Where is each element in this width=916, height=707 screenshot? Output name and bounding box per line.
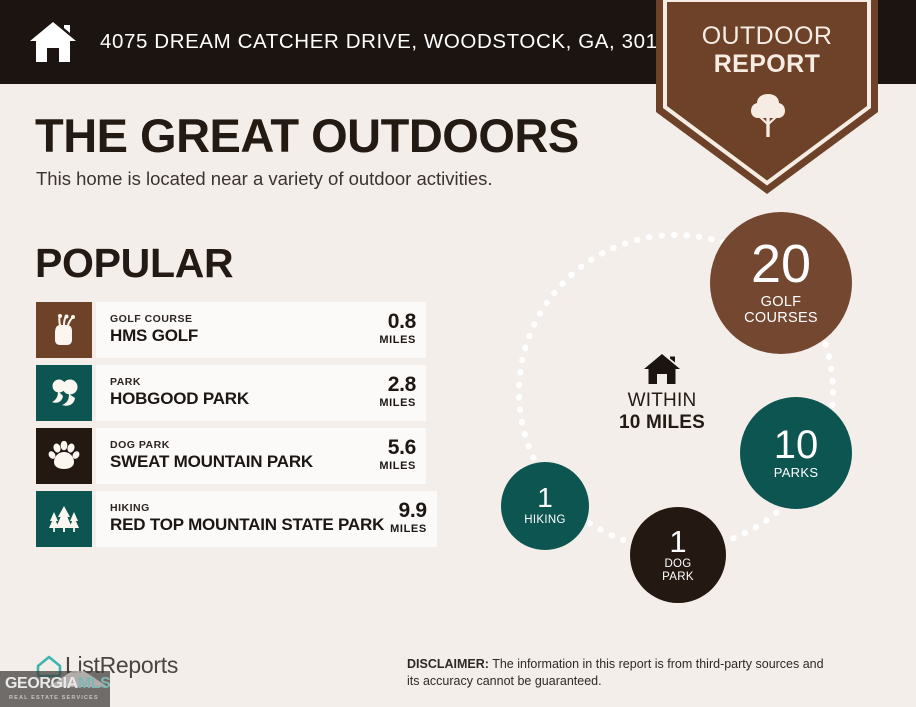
bubble-label-line-2: COURSES bbox=[744, 311, 818, 327]
list-item-distance: 2.8 MILES bbox=[373, 374, 416, 412]
home-icon bbox=[28, 20, 78, 64]
distance-unit: MILES bbox=[379, 458, 416, 475]
watermark-georgia: GEORGIA bbox=[5, 675, 78, 692]
within-10-miles-diagram: 20 GOLF COURSES 10 PARKS 1 DOG PARK 1 HI… bbox=[480, 196, 900, 616]
pine-trees-icon-tile bbox=[36, 491, 92, 547]
pine-trees-icon bbox=[48, 504, 80, 534]
list-item-category: HIKING bbox=[110, 502, 384, 515]
bubble-label-line-1: GOLF bbox=[761, 295, 802, 311]
list-item-name: HOBGOOD PARK bbox=[110, 389, 373, 409]
list-item[interactable]: GOLF COURSE HMS GOLF 0.8 MILES bbox=[36, 302, 426, 358]
list-item-body: DOG PARK SWEAT MOUNTAIN PARK 5.6 MILES bbox=[96, 428, 426, 484]
bubble-count: 1 bbox=[669, 527, 686, 556]
watermark-mls: MLS bbox=[78, 675, 110, 692]
bubble-dog-park[interactable]: 1 DOG PARK bbox=[630, 507, 726, 603]
home-icon bbox=[642, 352, 682, 386]
watermark-tagline: REAL ESTATE SERVICES bbox=[9, 695, 99, 701]
bubble-count: 20 bbox=[751, 239, 811, 290]
diagram-center-label: WITHIN 10 MILES bbox=[602, 352, 722, 434]
bubble-count: 1 bbox=[537, 485, 553, 512]
bubble-label-line-1: PARKS bbox=[774, 466, 819, 480]
list-item-body: PARK HOBGOOD PARK 2.8 MILES bbox=[96, 365, 426, 421]
distance-unit: MILES bbox=[379, 395, 416, 412]
golf-bag-icon bbox=[49, 314, 79, 346]
georgia-mls-watermark: GEORGIAMLS REAL ESTATE SERVICES bbox=[0, 671, 110, 707]
list-item-text: DOG PARK SWEAT MOUNTAIN PARK bbox=[110, 439, 373, 473]
list-item-name: HMS GOLF bbox=[110, 326, 373, 346]
park-trees-icon-tile bbox=[36, 365, 92, 421]
disclaimer-label: DISCLAIMER: bbox=[407, 657, 489, 671]
paw-print-icon-tile bbox=[36, 428, 92, 484]
bubble-label-line-1: HIKING bbox=[524, 514, 565, 527]
bubble-golf-courses[interactable]: 20 GOLF COURSES bbox=[710, 212, 852, 354]
bubble-count: 10 bbox=[774, 426, 819, 464]
paw-print-icon bbox=[48, 441, 80, 471]
list-item-distance: 0.8 MILES bbox=[373, 311, 416, 349]
distance-unit: MILES bbox=[379, 332, 416, 349]
park-trees-icon bbox=[48, 378, 80, 408]
watermark-name: GEORGIAMLS bbox=[5, 676, 110, 692]
distance-value: 2.8 bbox=[379, 374, 416, 395]
popular-list: GOLF COURSE HMS GOLF 0.8 MILES PARK HOBG… bbox=[36, 302, 426, 554]
list-item-text: GOLF COURSE HMS GOLF bbox=[110, 313, 373, 347]
golf-bag-icon-tile bbox=[36, 302, 92, 358]
center-line-1: WITHIN bbox=[602, 390, 722, 412]
distance-unit: MILES bbox=[390, 521, 427, 538]
list-item-body: GOLF COURSE HMS GOLF 0.8 MILES bbox=[96, 302, 426, 358]
list-item-text: PARK HOBGOOD PARK bbox=[110, 376, 373, 410]
list-item-distance: 9.9 MILES bbox=[384, 500, 427, 538]
distance-value: 0.8 bbox=[379, 311, 416, 332]
center-line-2: 10 MILES bbox=[602, 412, 722, 434]
list-item-name: RED TOP MOUNTAIN STATE PARK bbox=[110, 515, 384, 535]
distance-value: 5.6 bbox=[379, 437, 416, 458]
list-item-name: SWEAT MOUNTAIN PARK bbox=[110, 452, 373, 472]
section-heading-popular: POPULAR bbox=[35, 240, 233, 287]
page-subtitle: This home is located near a variety of o… bbox=[36, 168, 493, 190]
list-item-category: DOG PARK bbox=[110, 439, 373, 452]
property-address: 4075 DREAM CATCHER DRIVE, WOODSTOCK, GA,… bbox=[100, 30, 682, 54]
bubble-hiking[interactable]: 1 HIKING bbox=[501, 462, 589, 550]
bubble-parks[interactable]: 10 PARKS bbox=[740, 397, 852, 509]
list-item-distance: 5.6 MILES bbox=[373, 437, 416, 475]
list-item-text: HIKING RED TOP MOUNTAIN STATE PARK bbox=[110, 502, 384, 536]
list-item[interactable]: DOG PARK SWEAT MOUNTAIN PARK 5.6 MILES bbox=[36, 428, 426, 484]
disclaimer: DISCLAIMER: The information in this repo… bbox=[407, 656, 827, 690]
bubble-label-line-2: PARK bbox=[662, 571, 694, 584]
bubble-label-line-1: DOG bbox=[664, 558, 691, 571]
list-item-category: GOLF COURSE bbox=[110, 313, 373, 326]
list-item-body: HIKING RED TOP MOUNTAIN STATE PARK 9.9 M… bbox=[96, 491, 437, 547]
list-item[interactable]: PARK HOBGOOD PARK 2.8 MILES bbox=[36, 365, 426, 421]
page-title: THE GREAT OUTDOORS bbox=[35, 108, 579, 163]
list-item-category: PARK bbox=[110, 376, 373, 389]
outdoor-report-badge: OUTDOOR REPORT bbox=[656, 0, 878, 194]
list-item[interactable]: HIKING RED TOP MOUNTAIN STATE PARK 9.9 M… bbox=[36, 491, 426, 547]
distance-value: 9.9 bbox=[390, 500, 427, 521]
